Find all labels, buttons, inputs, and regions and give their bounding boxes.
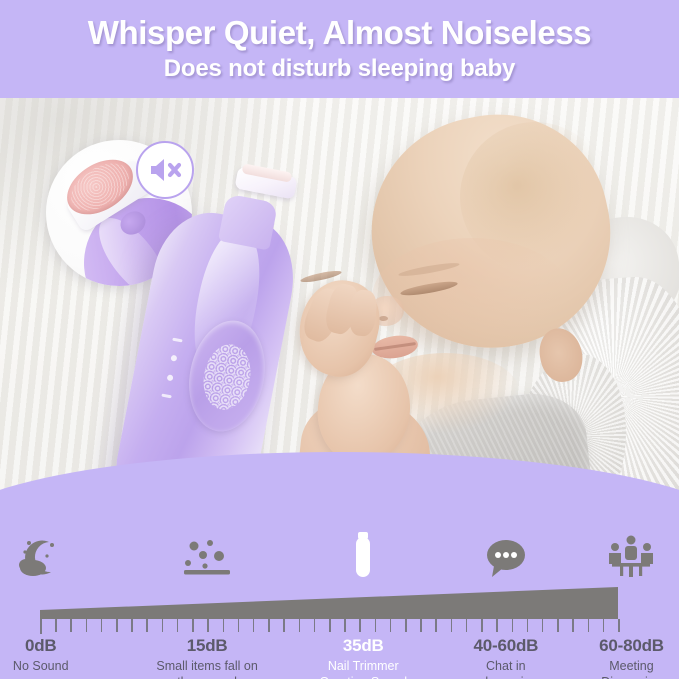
scale-label-description: MeetingDiscussion (599, 658, 664, 679)
ruler-tick (451, 619, 453, 632)
ruler-tick (70, 619, 72, 632)
decibel-scale: 0dBNo Sound15dBSmall items fall onthe gr… (0, 525, 679, 679)
scale-wedge-bar (40, 587, 618, 619)
moon-cloud-icon (17, 536, 65, 585)
scale-label-description: No Sound (13, 658, 69, 675)
ruler-tick (466, 619, 468, 632)
scale-label: 60-80dBMeetingDiscussion (599, 637, 664, 679)
scale-label: 0dBNo Sound (13, 637, 69, 674)
ruler-tick (603, 619, 605, 632)
ruler-tick (527, 619, 529, 632)
scale-label-value: 15dB (156, 637, 257, 656)
led-indicator (167, 374, 174, 381)
trimmer-neck (218, 193, 278, 250)
scale-label-value: 0dB (13, 637, 69, 656)
scale-label-value: 40-60dB (473, 637, 538, 656)
ruler-tick (40, 619, 42, 634)
ruler-tick (390, 619, 392, 632)
ruler-tick (177, 619, 179, 632)
ruler-tick (557, 619, 559, 632)
ruler-tick (116, 619, 118, 632)
page-subtitle: Does not disturb sleeping baby (164, 55, 515, 83)
ruler-tick (512, 619, 514, 632)
led-indicator (172, 338, 182, 343)
ruler-tick (405, 619, 407, 632)
scale-label: 15dBSmall items fall onthe ground (156, 637, 257, 679)
ruler-tick (192, 619, 194, 632)
scale-icon-row (0, 525, 679, 587)
page-title: Whisper Quiet, Almost Noiseless (88, 16, 592, 51)
meeting-people-icon (606, 534, 656, 585)
ruler-tick (238, 619, 240, 632)
ruler-tick (359, 619, 361, 632)
scale-label: 40-60dBChat ina low voice (473, 637, 538, 679)
ruler-tick (572, 619, 574, 632)
ruler-tick (283, 619, 285, 632)
ruler-tick (207, 619, 209, 632)
ruler-tick (329, 619, 331, 632)
scale-label: 35dBNail TrimmerOperting Sound (319, 637, 407, 679)
ruler-tick (299, 619, 301, 632)
scale-label-value: 60-80dB (599, 637, 664, 656)
baby-nostril (379, 316, 388, 321)
speech-bubble-icon (481, 536, 531, 585)
scale-label-description: Small items fall onthe ground (156, 658, 257, 679)
ruler-tick (101, 619, 103, 632)
ruler-tick (481, 619, 483, 632)
ruler-tick (162, 619, 164, 632)
ruler-tick (314, 619, 316, 632)
scale-label-description: Chat ina low voice (473, 658, 538, 679)
nail-trimmer-icon (352, 530, 374, 585)
ruler-tick (223, 619, 225, 632)
ruler-tick (542, 619, 544, 632)
scale-ruler-ticks (40, 619, 618, 635)
ruler-tick (588, 619, 590, 632)
ruler-tick (618, 619, 620, 632)
ruler-tick (131, 619, 133, 632)
ruler-tick (253, 619, 255, 632)
header-banner: Whisper Quiet, Almost Noiseless Does not… (0, 0, 679, 98)
ruler-tick (146, 619, 148, 632)
ruler-tick (86, 619, 88, 632)
product-infographic: 0dBNo Sound15dBSmall items fall onthe gr… (0, 0, 679, 679)
falling-items-icon (176, 536, 238, 585)
ruler-tick (55, 619, 57, 632)
ruler-tick (496, 619, 498, 632)
scale-label-value: 35dB (319, 637, 407, 656)
ruler-tick (420, 619, 422, 632)
ruler-tick (268, 619, 270, 632)
scale-label-description: Nail TrimmerOperting Sound (319, 658, 407, 679)
led-indicator (170, 355, 177, 362)
ruler-tick (435, 619, 437, 632)
ruler-tick (375, 619, 377, 632)
ruler-tick (344, 619, 346, 632)
